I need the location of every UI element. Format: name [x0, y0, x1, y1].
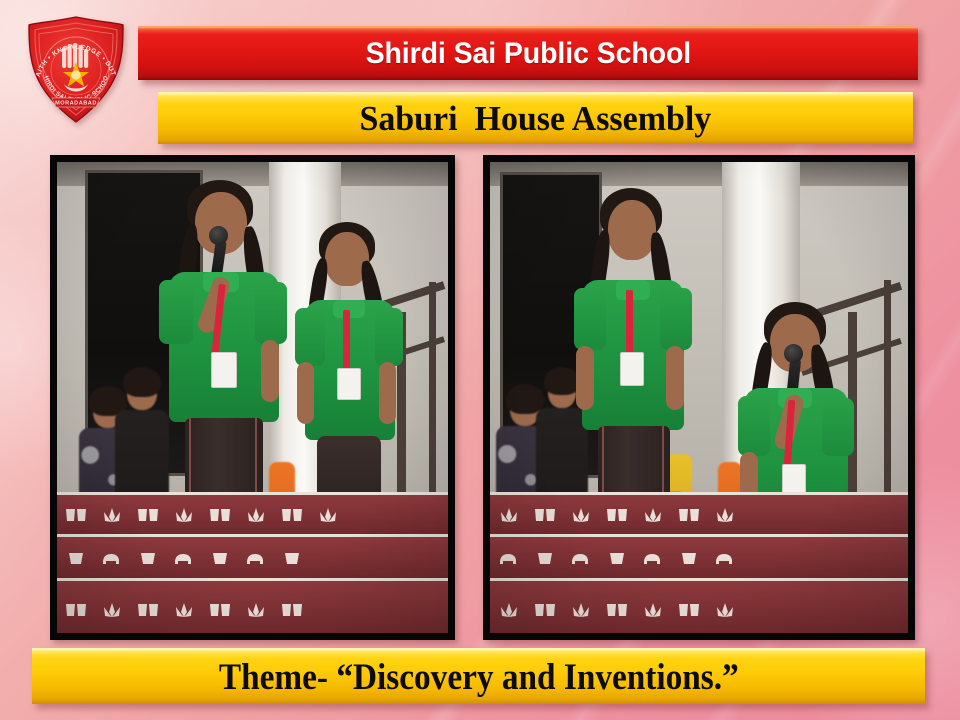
elephant-motif-icon: [243, 549, 269, 567]
assembly-title-text: Saburi House Assembly: [360, 99, 712, 139]
railing-baluster: [429, 282, 436, 512]
elephant-motif-icon: [568, 549, 594, 567]
lotus-motif-icon: [243, 506, 269, 524]
photo-left-scene: [57, 162, 448, 633]
drum-motif-icon: [532, 506, 558, 524]
theme-banner: Theme- “Discovery and Inventions.”: [32, 648, 925, 704]
lotus-motif-icon: [99, 506, 125, 524]
elephant-motif-icon: [99, 549, 125, 567]
assembly-title-banner: Saburi House Assembly: [158, 92, 913, 144]
step-riser: [57, 534, 448, 581]
lotus-motif-icon: [243, 601, 269, 619]
step-motifs: [490, 502, 908, 528]
lotus-motif-icon: [640, 506, 666, 524]
step-riser: [57, 492, 448, 537]
drum-motif-icon: [279, 601, 305, 619]
temple-steps: [57, 492, 448, 633]
drum-motif-icon: [676, 506, 702, 524]
drum-motif-icon: [207, 601, 233, 619]
elephant-motif-icon: [712, 549, 738, 567]
lotus-motif-icon: [640, 601, 666, 619]
railing-baluster: [884, 280, 891, 516]
lotus-motif-icon: [315, 506, 341, 524]
drum-motif-icon: [135, 506, 161, 524]
step-riser: [57, 578, 448, 633]
step-riser: [490, 534, 908, 581]
pot-motif-icon: [532, 549, 558, 567]
pot-motif-icon: [207, 549, 233, 567]
lotus-motif-icon: [496, 601, 522, 619]
drum-motif-icon: [604, 506, 630, 524]
elephant-motif-icon: [640, 549, 666, 567]
step-motifs: [57, 592, 448, 629]
lotus-motif-icon: [171, 601, 197, 619]
assembly-photo-left: [50, 155, 455, 640]
elephant-motif-icon: [496, 549, 522, 567]
temple-steps: [490, 492, 908, 633]
pot-motif-icon: [135, 549, 161, 567]
drum-motif-icon: [279, 506, 305, 524]
drum-motif-icon: [532, 601, 558, 619]
drum-motif-icon: [676, 601, 702, 619]
drum-motif-icon: [63, 506, 89, 524]
step-motifs: [490, 592, 908, 629]
drum-motif-icon: [63, 601, 89, 619]
school-name-banner: Shirdi Sai Public School: [138, 26, 918, 80]
assembly-photo-right: [483, 155, 915, 640]
lotus-motif-icon: [171, 506, 197, 524]
elephant-motif-icon: [171, 549, 197, 567]
pot-motif-icon: [676, 549, 702, 567]
pot-motif-icon: [279, 549, 305, 567]
pot-motif-icon: [63, 549, 89, 567]
lotus-motif-icon: [712, 601, 738, 619]
drum-motif-icon: [604, 601, 630, 619]
lotus-motif-icon: [496, 506, 522, 524]
lotus-motif-icon: [712, 506, 738, 524]
drum-motif-icon: [135, 601, 161, 619]
school-crest-logo: FAITH • KNOWLEDGE • DUTY SHIRDI SAI PUBL…: [22, 14, 130, 126]
step-riser: [490, 492, 908, 537]
lotus-motif-icon: [568, 601, 594, 619]
slide-canvas: FAITH • KNOWLEDGE • DUTY SHIRDI SAI PUBL…: [0, 0, 960, 720]
pot-motif-icon: [604, 549, 630, 567]
step-motifs: [57, 545, 448, 572]
step-motifs: [490, 545, 908, 572]
lotus-motif-icon: [99, 601, 125, 619]
school-name-text: Shirdi Sai Public School: [365, 37, 691, 71]
theme-text: Theme- “Discovery and Inventions.”: [219, 656, 739, 699]
step-motifs: [57, 502, 448, 528]
step-riser: [490, 578, 908, 633]
svg-text:MORADABAD: MORADABAD: [55, 101, 97, 107]
lotus-motif-icon: [568, 506, 594, 524]
drum-motif-icon: [207, 506, 233, 524]
photo-right-scene: [490, 162, 908, 633]
